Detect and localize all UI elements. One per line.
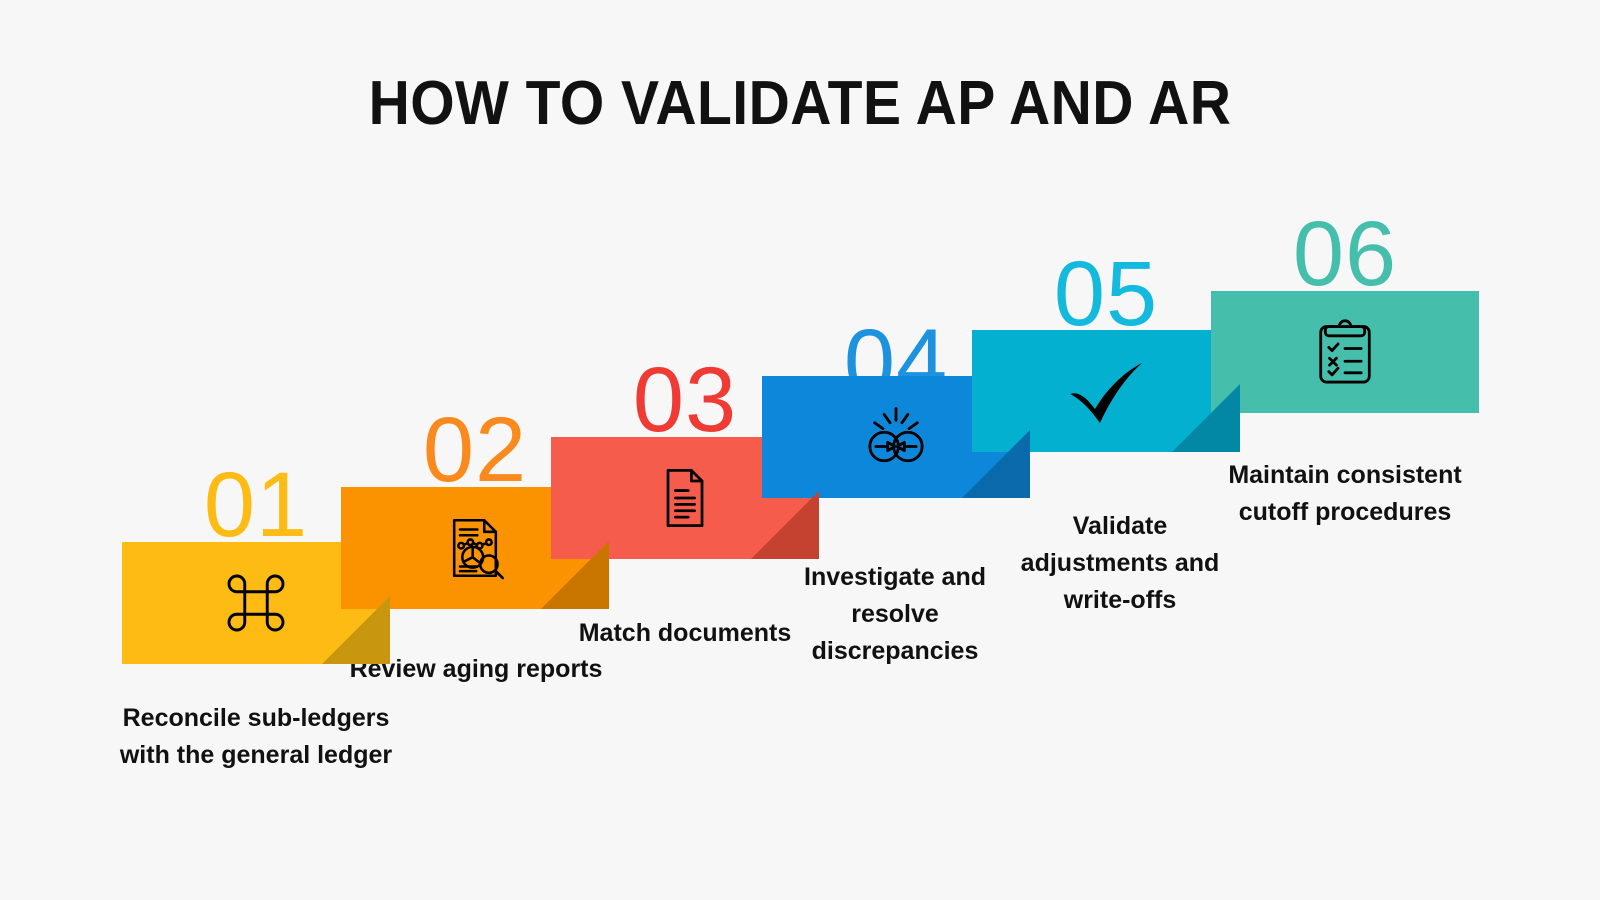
infographic-canvas: HOW TO VALIDATE AP AND AR 01 Reconcile s…	[0, 0, 1600, 900]
step-block-05[interactable]	[972, 330, 1240, 452]
step-number-05: 05	[972, 248, 1240, 340]
step-label-03: Match documents	[556, 615, 814, 652]
clipboard-checklist-icon	[1211, 291, 1479, 413]
step-number-06: 06	[1211, 208, 1479, 300]
step-label-04: Investigate and resolve discrepancies	[780, 559, 1010, 670]
step-label-01: Reconcile sub-ledgers with the general l…	[110, 700, 402, 774]
step-label-05: Validate adjustments and write-offs	[1014, 508, 1226, 619]
step-label-02: Review aging reports	[347, 651, 605, 688]
checkmark-icon	[972, 330, 1240, 452]
step-label-06: Maintain consistent cutoff procedures	[1217, 457, 1473, 531]
step-block-06[interactable]	[1211, 291, 1479, 413]
page-title: HOW TO VALIDATE AP AND AR	[64, 68, 1536, 139]
